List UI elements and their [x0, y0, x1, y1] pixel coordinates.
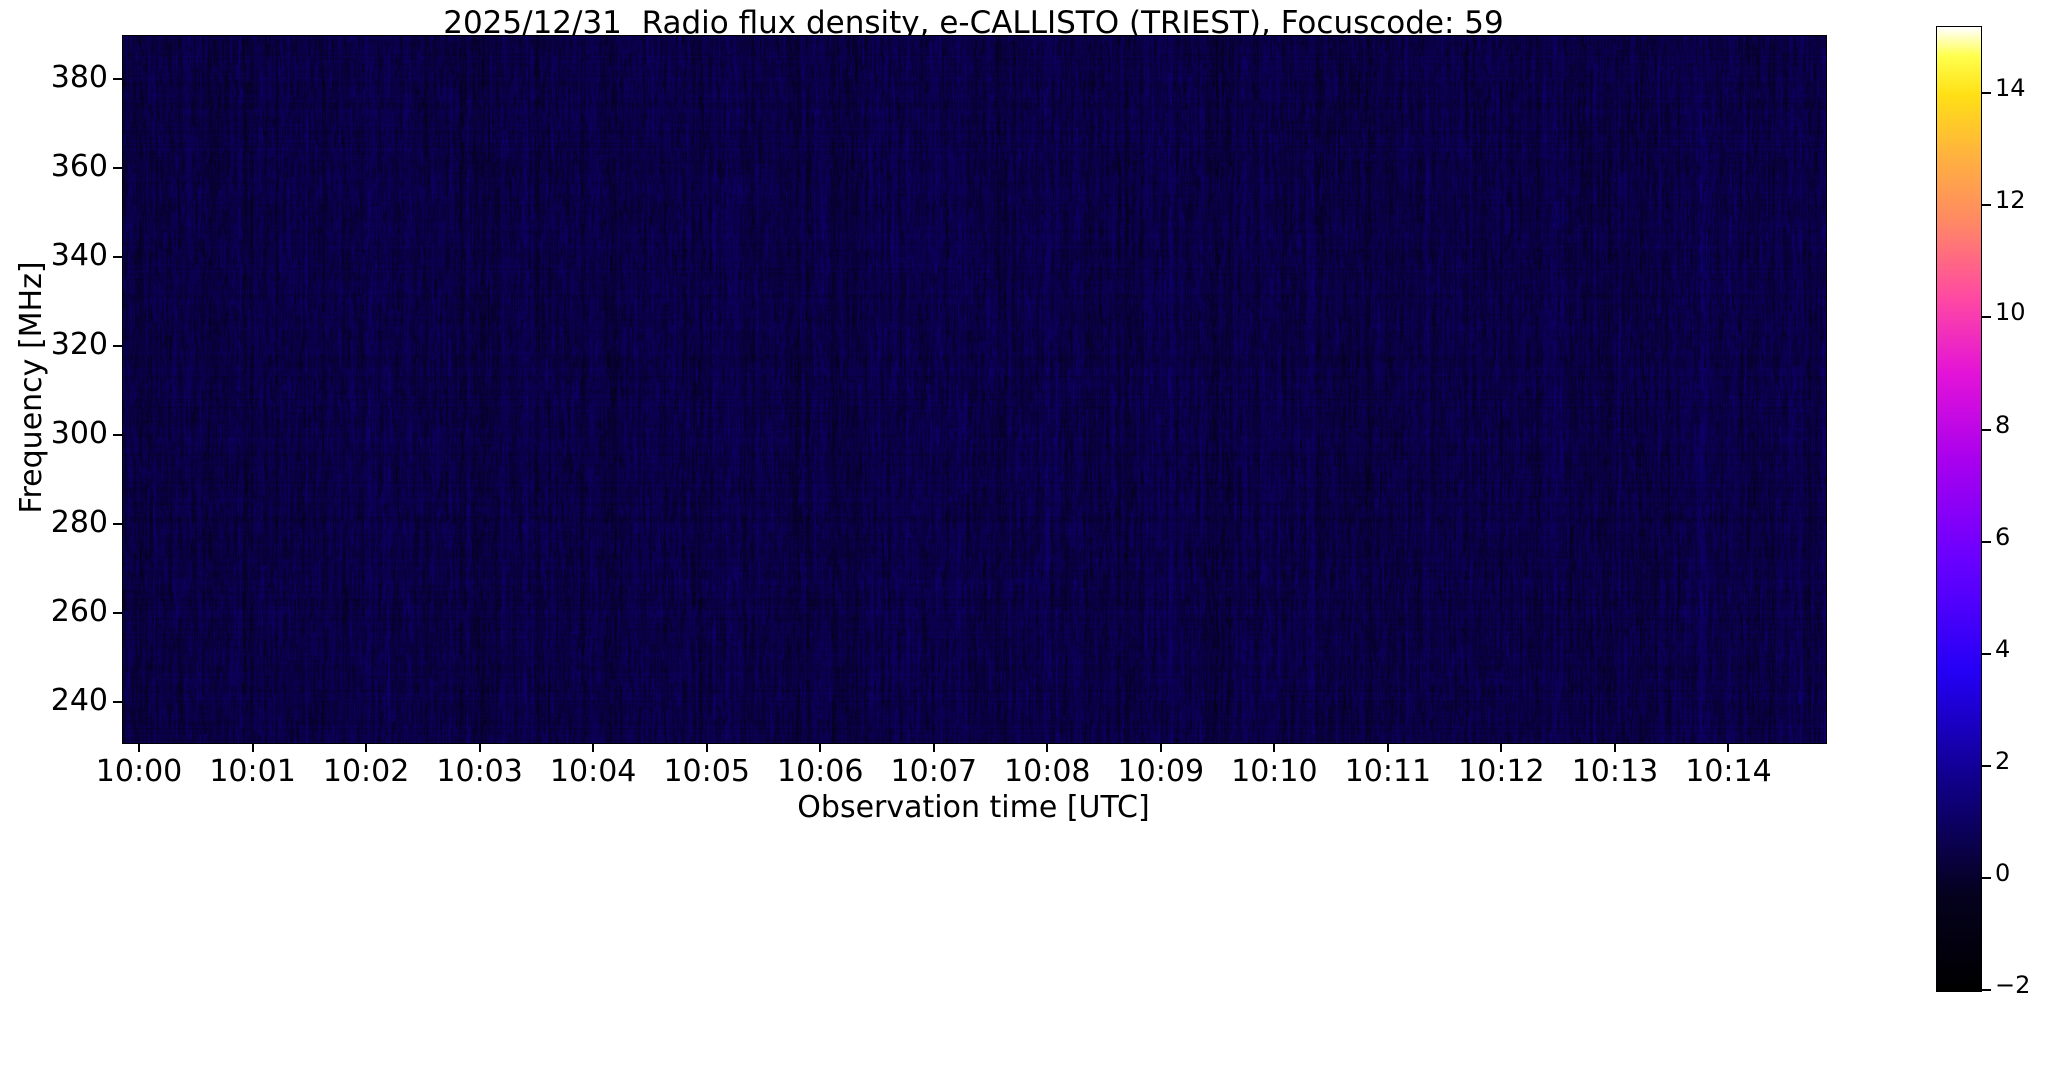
- y-tick: 300: [113, 434, 122, 436]
- colorbar-tick: 6: [1982, 541, 1991, 543]
- colorbar-tick-line: [1982, 653, 1991, 655]
- x-tick: 10:12: [1500, 743, 1502, 752]
- x-tick: 10:06: [819, 743, 821, 752]
- y-tick: 380: [113, 78, 122, 80]
- colorbar-tick-line: [1982, 765, 1991, 767]
- colorbar-tick: 4: [1982, 653, 1991, 655]
- x-tick-line: [706, 743, 708, 752]
- x-tick-label: 10:10: [1231, 754, 1317, 789]
- y-tick: 280: [113, 523, 122, 525]
- x-tick-line: [819, 743, 821, 752]
- y-tick-label: 260: [51, 594, 108, 629]
- y-tick-line: [113, 612, 122, 614]
- x-tick-label: 10:06: [777, 754, 863, 789]
- colorbar-tick: 0: [1982, 877, 1991, 879]
- x-tick: 10:08: [1046, 743, 1048, 752]
- y-tick-line: [113, 256, 122, 258]
- colorbar-tick: 12: [1982, 204, 1991, 206]
- x-tick: 10:05: [706, 743, 708, 752]
- x-tick: 10:02: [365, 743, 367, 752]
- x-tick-line: [365, 743, 367, 752]
- x-tick-label: 10:11: [1345, 754, 1431, 789]
- x-tick-label: 10:04: [550, 754, 636, 789]
- y-tick-line: [113, 523, 122, 525]
- colorbar-tick-label: 2: [1995, 747, 2010, 775]
- y-tick-label: 280: [51, 505, 108, 540]
- x-tick-line: [592, 743, 594, 752]
- x-tick-label: 10:02: [323, 754, 409, 789]
- x-tick: 10:14: [1727, 743, 1729, 752]
- x-tick: 10:13: [1614, 743, 1616, 752]
- x-tick-label: 10:12: [1458, 754, 1544, 789]
- x-tick-line: [933, 743, 935, 752]
- x-tick-label: 10:03: [436, 754, 522, 789]
- x-tick-line: [1387, 743, 1389, 752]
- spectrogram-plot-area: [122, 35, 1827, 744]
- x-tick-label: 10:01: [209, 754, 295, 789]
- x-tick-line: [1727, 743, 1729, 752]
- y-tick-line: [113, 345, 122, 347]
- colorbar-tick-line: [1982, 541, 1991, 543]
- x-tick: 10:03: [479, 743, 481, 752]
- colorbar-tick: 10: [1982, 316, 1991, 318]
- colorbar-tick: 2: [1982, 765, 1991, 767]
- x-tick-line: [1046, 743, 1048, 752]
- x-tick-line: [1273, 743, 1275, 752]
- colorbar-tick: 8: [1982, 429, 1991, 431]
- colorbar-tick-line: [1982, 316, 1991, 318]
- x-tick-label: 10:14: [1685, 754, 1771, 789]
- y-tick-label: 380: [51, 60, 108, 95]
- colorbar-tick-label: 14: [1995, 74, 2026, 102]
- x-tick-line: [479, 743, 481, 752]
- spectrogram-figure: 2025/12/31 Radio flux density, e-CALLIST…: [0, 0, 2066, 1067]
- x-tick-line: [252, 743, 254, 752]
- colorbar-tick-label: 12: [1995, 186, 2026, 214]
- y-tick: 240: [113, 701, 122, 703]
- y-tick: 260: [113, 612, 122, 614]
- colorbar-tick: 14: [1982, 92, 1991, 94]
- x-tick-label: 10:08: [1004, 754, 1090, 789]
- x-tick-line: [1500, 743, 1502, 752]
- y-tick-line: [113, 78, 122, 80]
- colorbar-tick-label: 0: [1995, 859, 2010, 887]
- y-tick-line: [113, 167, 122, 169]
- colorbar: [1936, 26, 1982, 992]
- y-tick-label: 300: [51, 416, 108, 451]
- x-tick-label: 10:09: [1118, 754, 1204, 789]
- colorbar-tick-label: 6: [1995, 523, 2010, 551]
- colorbar-tick-line: [1982, 989, 1991, 991]
- colorbar-tick-line: [1982, 204, 1991, 206]
- spectrogram-image: [123, 36, 1826, 743]
- x-tick-label: 10:00: [96, 754, 182, 789]
- colorbar-tick-label: 10: [1995, 298, 2026, 326]
- x-tick: 10:07: [933, 743, 935, 752]
- y-tick-line: [113, 434, 122, 436]
- x-tick: 10:04: [592, 743, 594, 752]
- y-tick: 360: [113, 167, 122, 169]
- colorbar-tick-line: [1982, 92, 1991, 94]
- x-tick-label: 10:07: [891, 754, 977, 789]
- colorbar-tick-label: 8: [1995, 411, 2010, 439]
- colorbar-tick-label: 4: [1995, 635, 2010, 663]
- x-tick: 10:09: [1160, 743, 1162, 752]
- x-tick-line: [1160, 743, 1162, 752]
- x-tick: 10:00: [138, 743, 140, 752]
- y-tick: 340: [113, 256, 122, 258]
- colorbar-tick-line: [1982, 877, 1991, 879]
- x-tick: 10:01: [252, 743, 254, 752]
- colorbar-tick: −2: [1982, 989, 1991, 991]
- y-tick: 320: [113, 345, 122, 347]
- y-tick-line: [113, 701, 122, 703]
- colorbar-tick-line: [1982, 429, 1991, 431]
- y-axis-label: Frequency [MHz]: [14, 34, 49, 741]
- x-tick-label: 10:13: [1572, 754, 1658, 789]
- y-tick-label: 340: [51, 238, 108, 273]
- x-tick-label: 10:05: [663, 754, 749, 789]
- colorbar-tick-label: −2: [1995, 971, 2030, 999]
- colorbar-gradient: [1937, 27, 1981, 991]
- x-axis-label: Observation time [UTC]: [122, 790, 1825, 825]
- x-tick: 10:10: [1273, 743, 1275, 752]
- x-tick-line: [138, 743, 140, 752]
- x-tick: 10:11: [1387, 743, 1389, 752]
- y-tick-label: 240: [51, 683, 108, 718]
- x-tick-line: [1614, 743, 1616, 752]
- y-tick-label: 320: [51, 327, 108, 362]
- y-tick-label: 360: [51, 149, 108, 184]
